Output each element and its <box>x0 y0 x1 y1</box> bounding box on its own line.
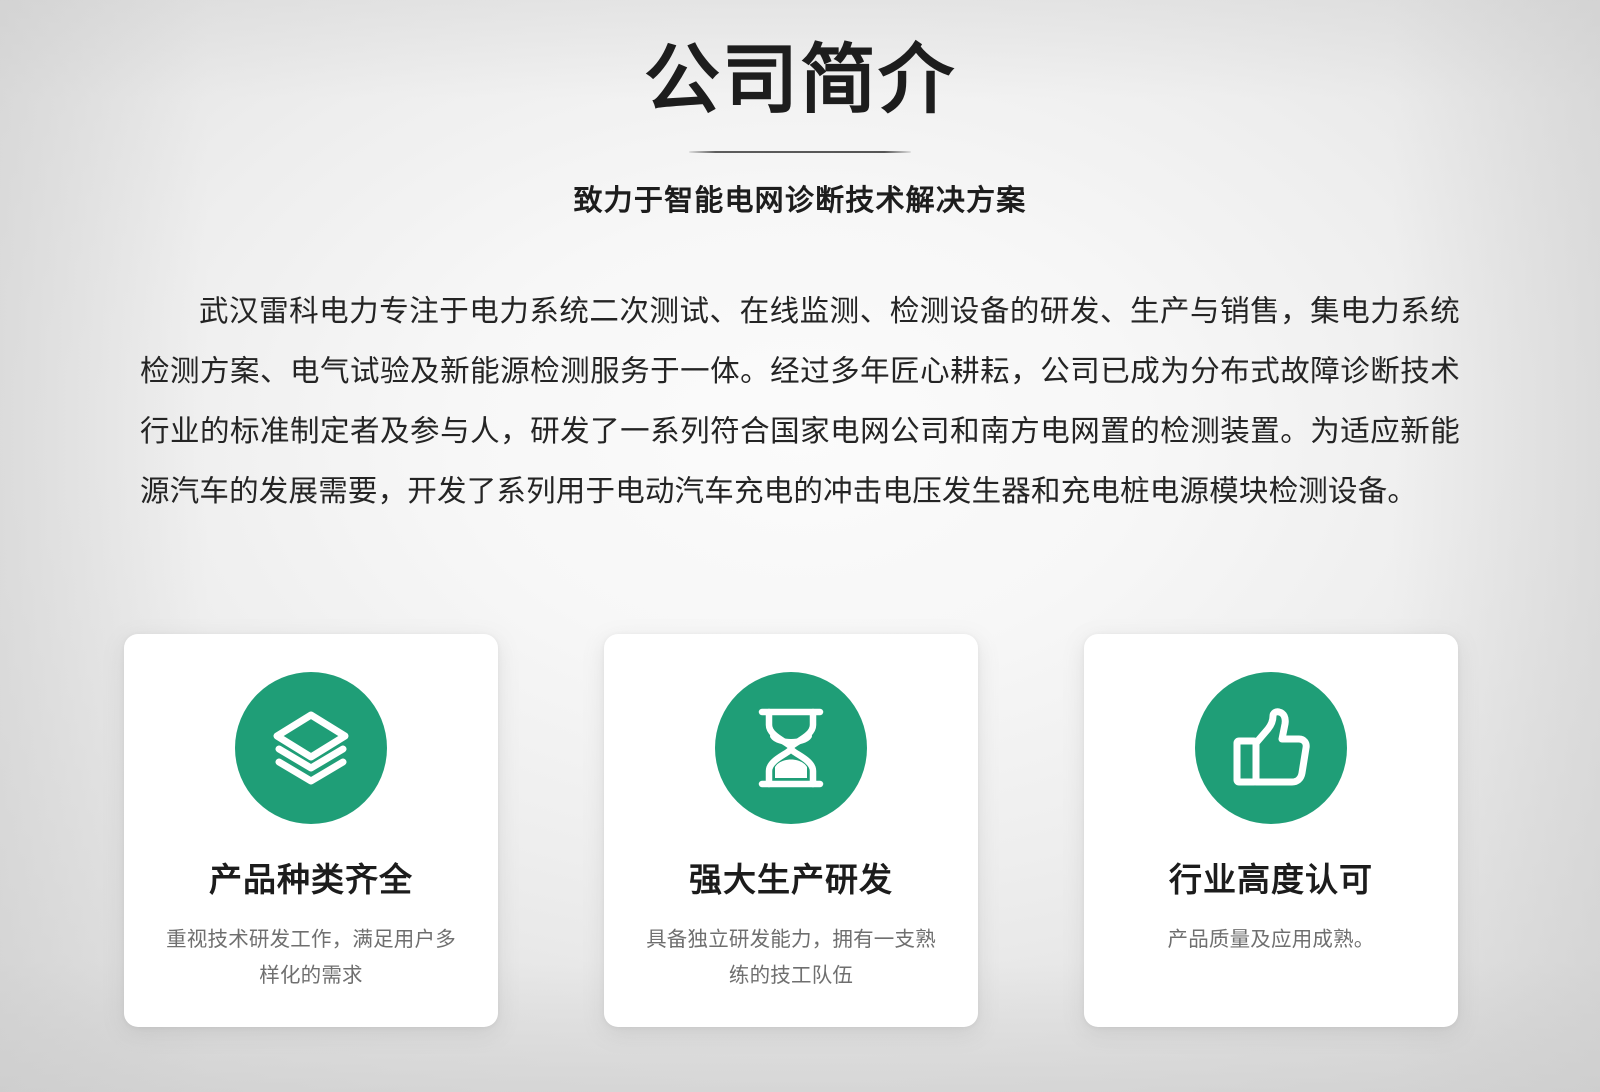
feature-card-description: 具备独立研发能力，拥有一支熟练的技工队伍 <box>636 922 946 994</box>
hourglass-icon <box>750 705 832 791</box>
icon-badge <box>715 672 867 824</box>
feature-card-description: 重视技术研发工作，满足用户多样化的需求 <box>156 922 466 994</box>
thumbs-up-icon <box>1228 705 1314 791</box>
feature-card[interactable]: 强大生产研发 具备独立研发能力，拥有一支熟练的技工队伍 <box>604 634 978 1027</box>
layers-icon <box>268 705 354 791</box>
feature-card[interactable]: 行业高度认可 产品质量及应用成熟。 <box>1084 634 1458 1027</box>
icon-badge <box>235 672 387 824</box>
feature-card-title: 产品种类齐全 <box>209 862 413 898</box>
page-title: 公司简介 <box>0 0 1600 119</box>
title-divider-icon <box>689 151 911 153</box>
page-header: 公司简介 致力于智能电网诊断技术解决方案 <box>0 0 1600 219</box>
feature-card-title: 强大生产研发 <box>689 862 893 898</box>
company-intro-paragraph: 武汉雷科电力专注于电力系统二次测试、在线监测、检测设备的研发、生产与销售，集电力… <box>140 282 1460 522</box>
feature-card-list: 产品种类齐全 重视技术研发工作，满足用户多样化的需求 <box>124 634 1458 1027</box>
feature-card-title: 行业高度认可 <box>1169 862 1373 898</box>
icon-badge <box>1195 672 1347 824</box>
company-profile-page: 公司简介 致力于智能电网诊断技术解决方案 武汉雷科电力专注于电力系统二次测试、在… <box>0 0 1600 1092</box>
page-subtitle: 致力于智能电网诊断技术解决方案 <box>0 177 1600 219</box>
feature-card[interactable]: 产品种类齐全 重视技术研发工作，满足用户多样化的需求 <box>124 634 498 1027</box>
feature-card-description: 产品质量及应用成熟。 <box>1168 922 1375 958</box>
